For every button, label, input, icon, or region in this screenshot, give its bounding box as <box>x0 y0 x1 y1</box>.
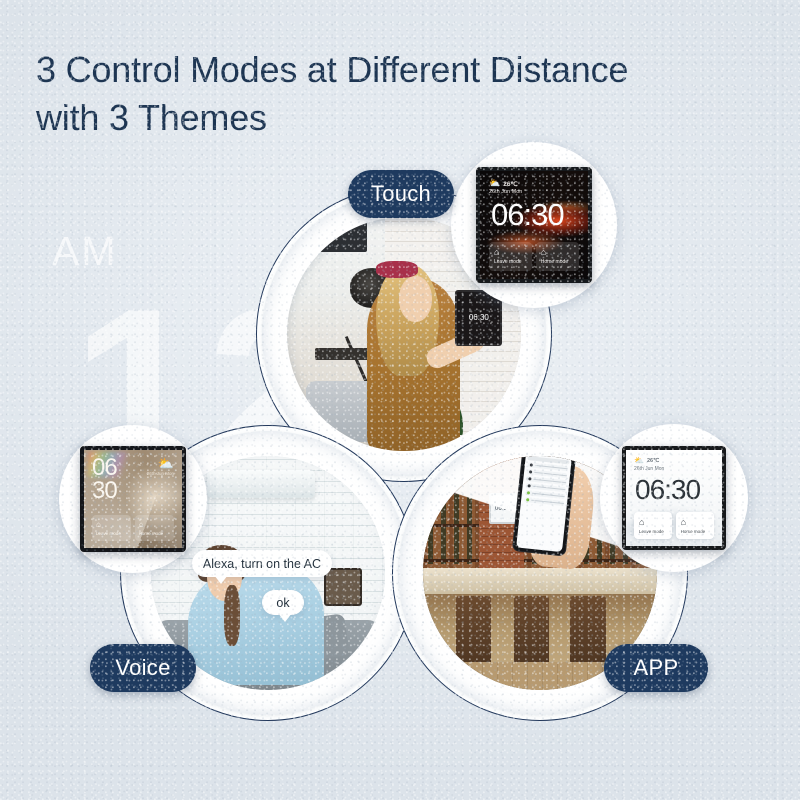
leave-mode-button[interactable]: ⌂ Leave mode <box>489 242 532 271</box>
device-label <box>533 479 566 484</box>
watermark-meridiem: AM <box>52 228 118 275</box>
app-theme-panel[interactable]: ⛅ 26℃ 26th Jun Mon 06:30 ⌂ Leave mode ⌂ … <box>622 446 726 550</box>
phone-screen <box>516 456 571 552</box>
leave-mode-label: Leave mode <box>494 259 522 265</box>
panel-clock-minute: 30 <box>92 480 117 503</box>
panel-temperature: 26℃ <box>503 180 518 188</box>
wall-mounted-panel[interactable] <box>324 568 361 605</box>
device-label <box>534 465 567 470</box>
leave-mode-button[interactable]: ⌂ Leave mode <box>634 512 672 539</box>
voice-reply-bubble: ok <box>262 590 304 615</box>
sun-cloud-icon: ⛅ <box>489 179 500 188</box>
house-icon: ⌂ <box>639 518 644 527</box>
home-mode-label: Home mode <box>681 529 706 534</box>
device-icon <box>527 485 530 488</box>
device-label <box>531 493 564 498</box>
voice-command-text: Alexa, turn on the AC <box>203 557 321 571</box>
device-icon <box>529 464 532 467</box>
badge-app-label: APP <box>634 655 679 681</box>
page-title: 3 Control Modes at Different Distance wi… <box>36 46 796 141</box>
panel-clock: 06:30 <box>635 476 714 503</box>
badge-voice-label: Voice <box>115 655 170 681</box>
home-mode-label: Home mode <box>139 531 164 536</box>
badge-touch-label: Touch <box>371 181 431 207</box>
panel-clock: 06:30 <box>491 200 579 230</box>
device-icon-active <box>526 498 529 501</box>
home-mode-button[interactable]: ⌂ Home mode <box>135 515 174 541</box>
badge-voice[interactable]: Voice <box>90 644 196 692</box>
sun-cloud-icon: ⛅ <box>158 457 174 470</box>
voice-command-bubble: Alexa, turn on the AC <box>192 550 332 577</box>
leave-mode-button[interactable]: ⌂ Leave mode <box>92 515 131 541</box>
device-label <box>532 486 565 491</box>
air-conditioner <box>207 470 315 498</box>
panel-header: ⛅ 26℃ 26th Jun Mon <box>489 179 579 195</box>
panel-date: 26th Jun Mon <box>489 189 579 195</box>
panel-mode-buttons: ⌂ Leave mode ⌂ Home mode <box>489 242 579 271</box>
house-icon: ⌂ <box>681 518 686 527</box>
voice-reply-text: ok <box>276 596 289 610</box>
window <box>320 222 367 252</box>
device-label <box>534 472 567 477</box>
panel-date: 26th Jun Mon <box>147 471 174 476</box>
panel-temperature: 26℃ <box>647 458 659 464</box>
panel-mode-buttons: ⌂ Leave mode ⌂ Home mode <box>92 515 174 541</box>
panel-header: ⛅ 26℃ 26th Jun Mon <box>634 457 714 472</box>
person-headband <box>376 261 418 277</box>
device-icon <box>528 478 531 481</box>
home-mode-button[interactable]: ⌂ Home mode <box>676 512 714 539</box>
house-icon: ⌂ <box>139 521 144 529</box>
person-braid <box>224 585 240 646</box>
house-icon: ⌂ <box>541 248 546 257</box>
badge-touch[interactable]: Touch <box>348 170 454 218</box>
device-label <box>531 500 564 505</box>
device-icon <box>529 471 532 474</box>
leave-mode-label: Leave mode <box>639 529 664 534</box>
smartphone[interactable] <box>511 456 575 557</box>
touch-theme-callout: ⛅ 26℃ 26th Jun Mon 06:30 ⌂ Leave mode ⌂ … <box>451 142 617 308</box>
person-face <box>399 276 432 323</box>
device-icon-active <box>526 492 529 495</box>
panel-date: 26th Jun Mon <box>634 466 714 472</box>
app-theme-callout: ⛅ 26℃ 26th Jun Mon 06:30 ⌂ Leave mode ⌂ … <box>600 424 748 572</box>
page-title-line-1: 3 Control Modes at Different Distance <box>36 46 796 94</box>
badge-app[interactable]: APP <box>604 644 708 692</box>
infographic-canvas: AM 12 3 Control Modes at Different Dista… <box>0 0 800 800</box>
house-icon: ⌂ <box>96 521 101 529</box>
app-list-item[interactable] <box>524 497 564 506</box>
home-mode-button[interactable]: ⌂ Home mode <box>536 242 579 271</box>
touch-theme-panel[interactable]: ⛅ 26℃ 26th Jun Mon 06:30 ⌂ Leave mode ⌂ … <box>476 167 592 283</box>
page-title-line-2: with 3 Themes <box>36 94 796 142</box>
panel-clock-stacked: 06 30 <box>92 457 117 502</box>
leave-mode-label: Leave mode <box>96 531 121 536</box>
panel-mode-buttons: ⌂ Leave mode ⌂ Home mode <box>634 512 714 539</box>
sun-cloud-icon: ⛅ <box>634 457 644 465</box>
voice-theme-panel[interactable]: 06 30 ⛅ 26th Jun Mon ⌂ Leave mode ⌂ <box>80 446 186 552</box>
voice-theme-callout: 06 30 ⛅ 26th Jun Mon ⌂ Leave mode ⌂ <box>59 425 207 573</box>
home-mode-label: Home mode <box>541 259 568 265</box>
panel-header: ⛅ 26th Jun Mon <box>147 457 174 476</box>
house-icon: ⌂ <box>494 248 499 257</box>
